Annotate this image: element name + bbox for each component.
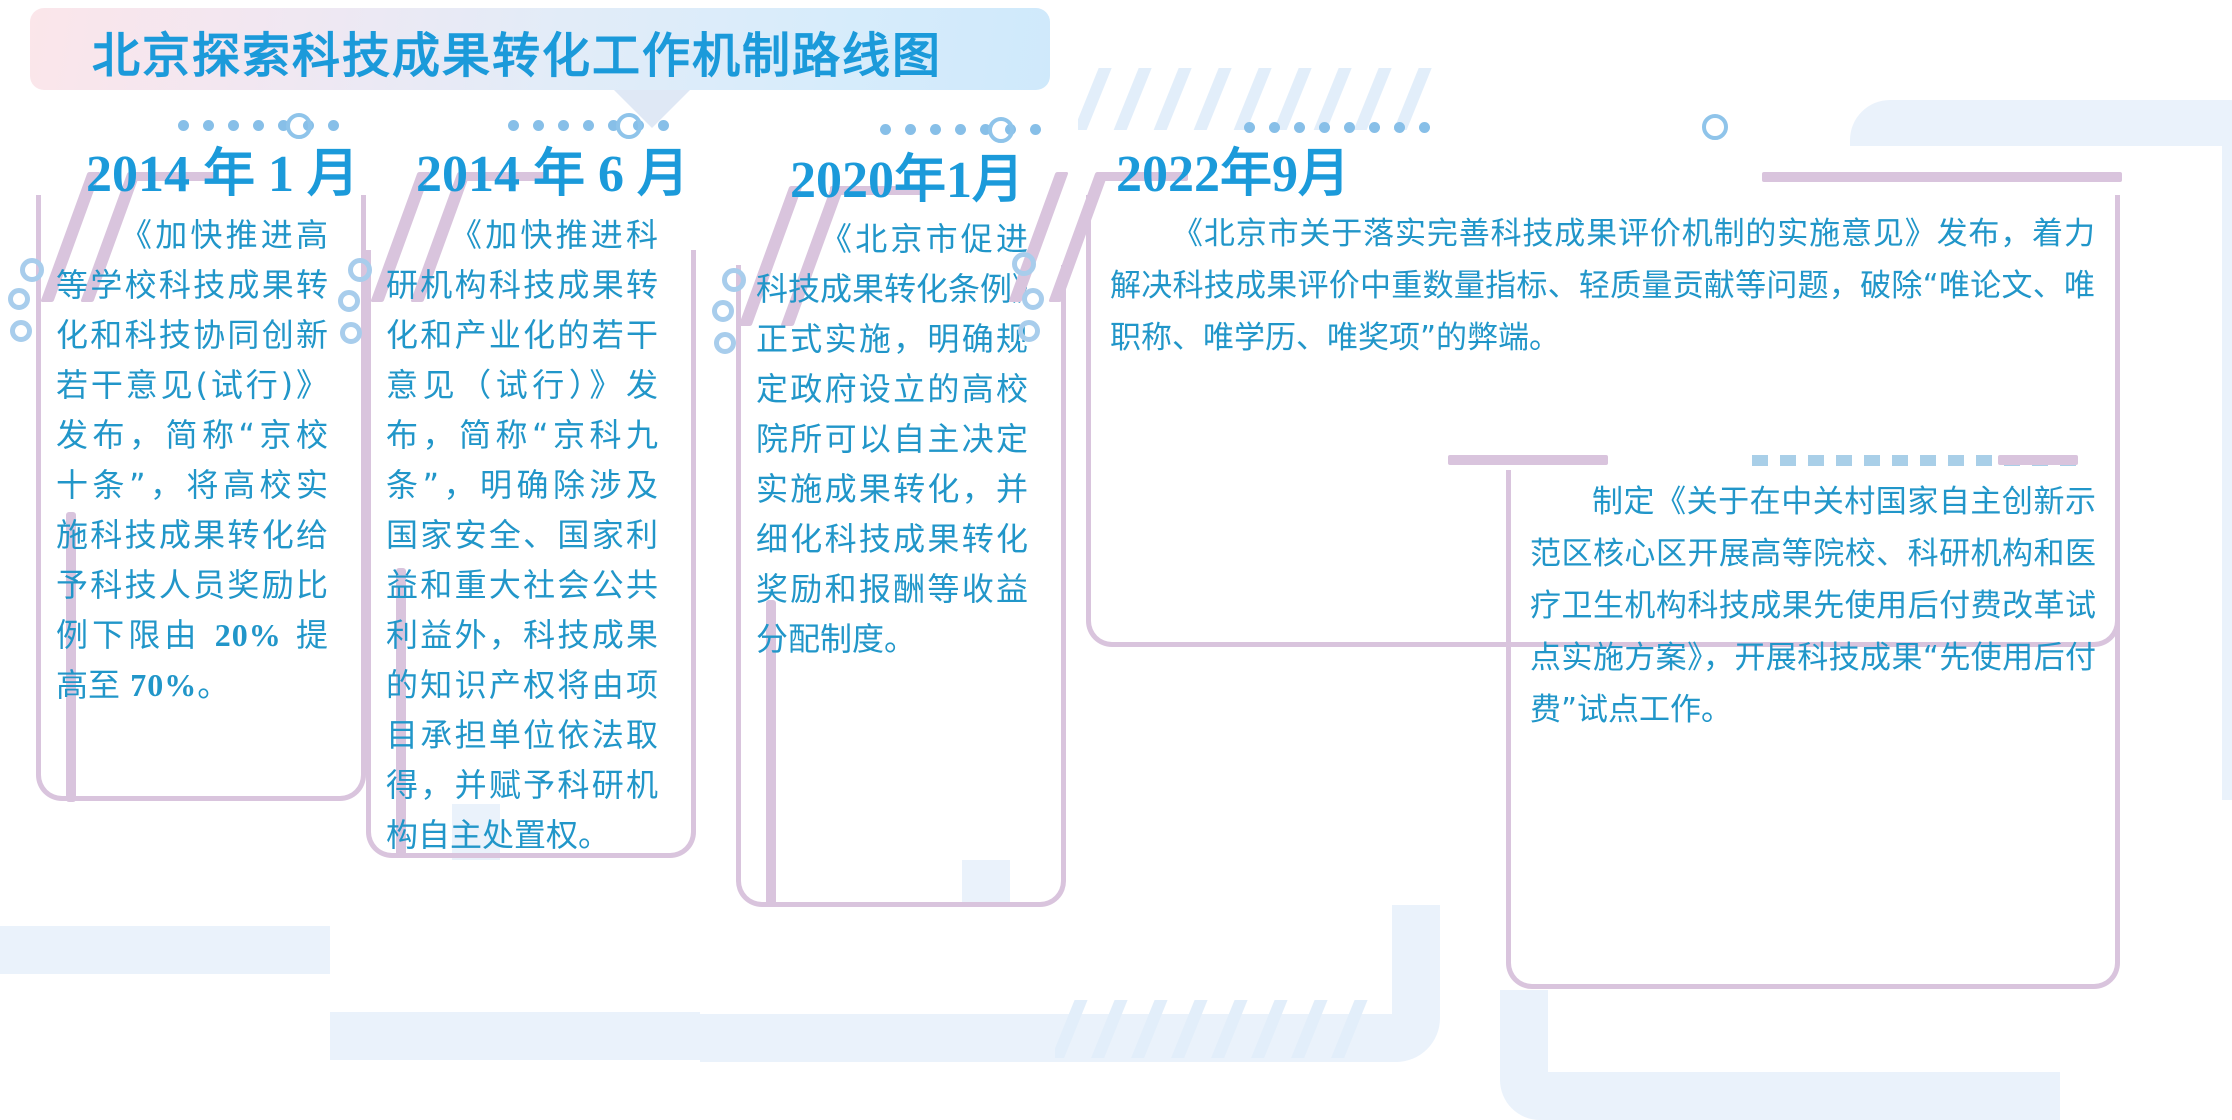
col-4-divider-right-bar [1998, 455, 2078, 465]
col-4-top-bar-right [1762, 172, 2122, 182]
dash [1892, 455, 1908, 466]
col-2-circle-1 [348, 258, 372, 282]
col-3-dotline [880, 124, 1041, 135]
col-1-circle-3 [10, 320, 32, 342]
col-3-endpoint-ring [988, 117, 1014, 143]
col-1-emph-20: 20% [215, 617, 282, 653]
dot [930, 124, 941, 135]
col-2-body: 《加快推进科研机构科技成果转化和产业化的若干意见（试行）》发布，简称“京科九条”… [386, 210, 658, 860]
dot [253, 120, 264, 131]
col-1-text-tail: 。 [197, 666, 229, 704]
col-2-circle-3 [340, 322, 362, 344]
col-1-dotline [178, 120, 339, 131]
col-3-circle-1 [722, 268, 746, 292]
dot [583, 120, 594, 131]
col-4-date: 2022年9月 [1116, 146, 1350, 204]
dash [1920, 455, 1936, 466]
col-4-divider-left-bar [1448, 455, 1608, 465]
dot [1294, 122, 1305, 133]
dot [508, 120, 519, 131]
col-4-circle-1 [1012, 252, 1036, 276]
dot [658, 120, 669, 131]
dash [1864, 455, 1880, 466]
hatch-decor-bottom [1055, 1000, 1385, 1058]
col-1-circle-1 [20, 258, 44, 282]
dot [228, 120, 239, 131]
dash [1976, 455, 1992, 466]
col-1-date: 2014 年 1 月 [86, 146, 359, 204]
col-4-circle-3 [1018, 320, 1040, 342]
dash [1836, 455, 1852, 466]
dot [1344, 122, 1355, 133]
col-2-dotline [508, 120, 669, 131]
dot [1394, 122, 1405, 133]
dot [1319, 122, 1330, 133]
col-4-endpoint-ring [1702, 114, 1728, 140]
card-3-shadow-mask [700, 905, 1392, 1014]
col-3-circle-3 [714, 332, 736, 354]
hatch-decor-top [1078, 68, 1433, 130]
col-2-circle-2 [338, 290, 360, 312]
dot [1269, 122, 1280, 133]
dot [1030, 124, 1041, 135]
dot [880, 124, 891, 135]
dot [1419, 122, 1430, 133]
dot [1244, 122, 1255, 133]
col-3-circle-2 [712, 300, 734, 322]
dot [178, 120, 189, 131]
col-4-circle-2 [1022, 288, 1044, 310]
dash [1808, 455, 1824, 466]
dot [955, 124, 966, 135]
dash [1752, 455, 1768, 466]
col-4-dotline [1244, 122, 1430, 133]
col-1-body: 《加快推进高等学校科技成果转化和科技协同创新若干意见(试行)》发布，简称“京校十… [56, 210, 328, 710]
card-4-shadow-bottom-mask [1548, 990, 2108, 1072]
infographic-canvas: 北京探索科技成果转化工作机制路线图 2014 年 1 月 《加快推进高等学校科技… [0, 0, 2232, 1062]
dot [905, 124, 916, 135]
dot [533, 120, 544, 131]
page-title: 北京探索科技成果转化工作机制路线图 [92, 22, 942, 90]
col-4-body-p1: 《北京市关于落实完善科技成果评价机制的实施意见》发布，着力解决科技成果评价中重数… [1110, 208, 2095, 364]
dot [203, 120, 214, 131]
dash [1780, 455, 1796, 466]
dot [1369, 122, 1380, 133]
col-1-text-lead: 《加快推进高等学校科技成果转化和科技协同创新若干意见(试行)》发布，简称“京校十… [56, 216, 328, 654]
col-2-endpoint-ring [616, 113, 642, 139]
col-3-body: 《北京市促进科技成果转化条例》正式实施，明确规定政府设立的高校院所可以自主决定实… [756, 214, 1028, 664]
dot [328, 120, 339, 131]
col-2-date: 2014 年 6 月 [416, 146, 689, 204]
col-1-circle-2 [8, 288, 30, 310]
title-banner: 北京探索科技成果转化工作机制路线图 [30, 8, 1050, 90]
dash [1948, 455, 1964, 466]
col-3-date: 2020年1月 [790, 152, 1024, 210]
col-1-emph-70: 70% [130, 667, 197, 703]
col-4-body-p2: 制定《关于在中关村国家自主创新示范区核心区开展高等院校、科研机构和医疗卫生机构科… [1530, 476, 2096, 736]
dot [558, 120, 569, 131]
col-1-endpoint-ring [286, 113, 312, 139]
